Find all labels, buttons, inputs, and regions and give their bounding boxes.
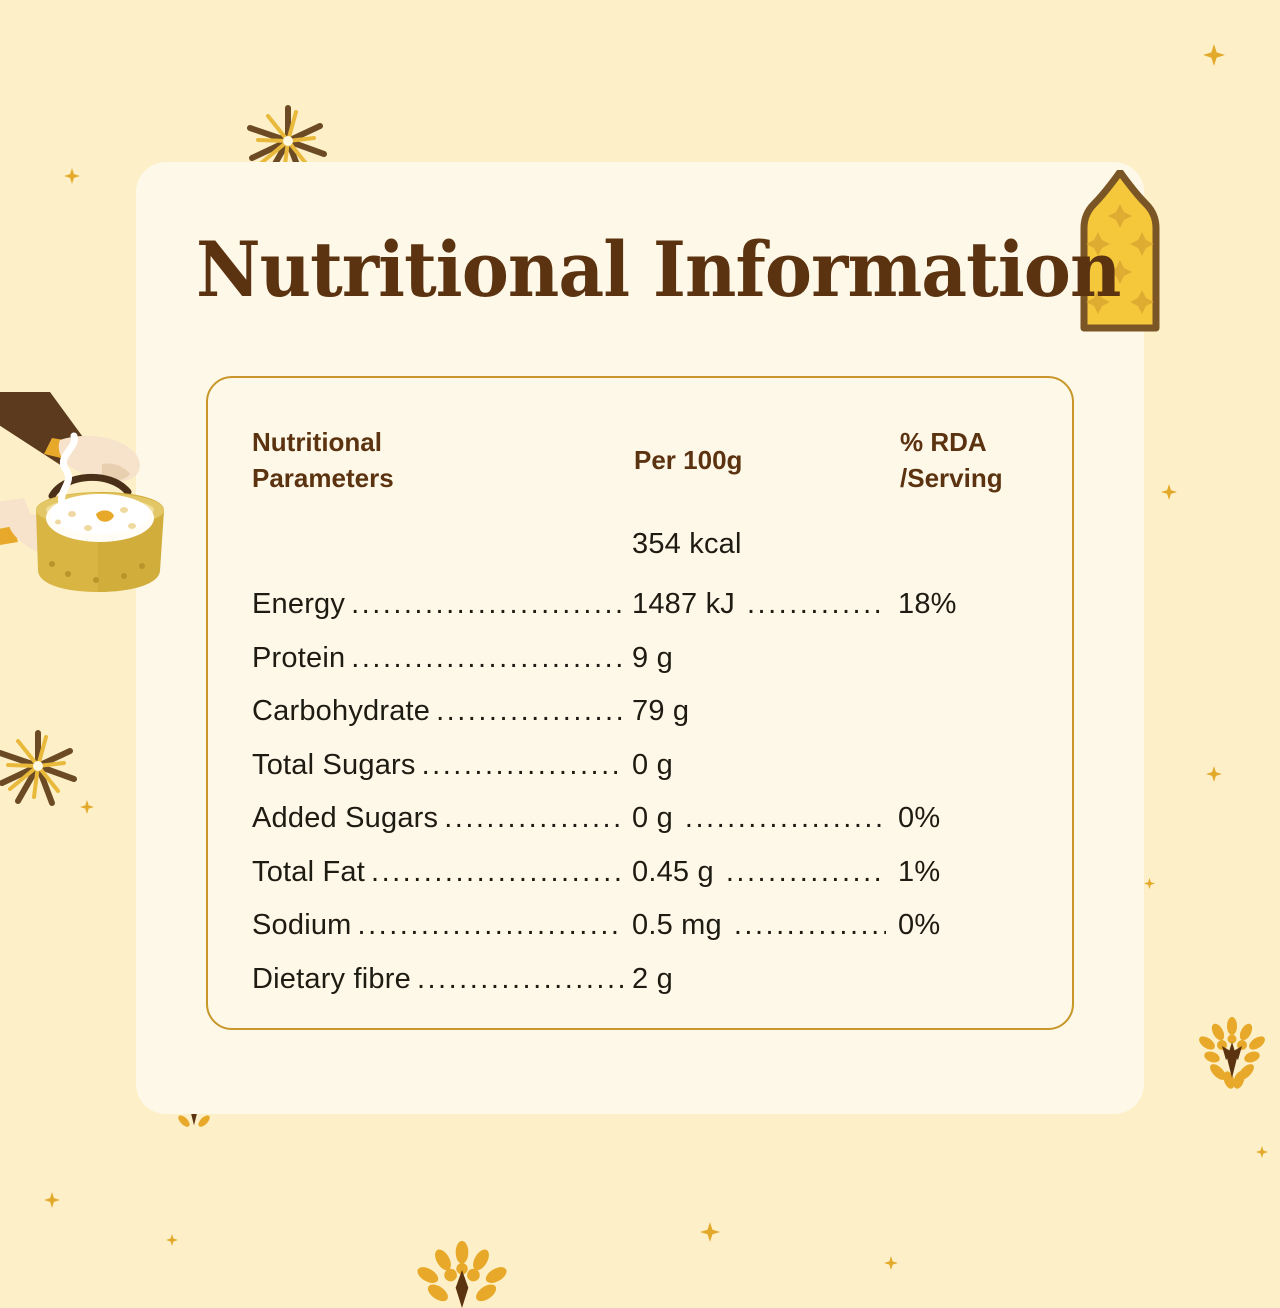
leader-dots: ........................................…: [734, 909, 886, 942]
row-value: 0 g: [632, 802, 673, 835]
gold-tree-motif-icon: [414, 1232, 510, 1308]
row-value: 1487 kJ: [632, 588, 735, 621]
row-value: 79 g: [632, 695, 689, 728]
table-row: Protein.................................…: [252, 642, 1052, 696]
gold-diamond-sparkle-icon: [64, 168, 80, 184]
gold-diamond-sparkle-icon: [1203, 44, 1225, 66]
row-label: Energy: [252, 588, 345, 621]
leader-dots: ........................................…: [726, 856, 886, 889]
firework-burst-icon: [0, 706, 98, 826]
table-header-row: Nutritional Parameters Per 100g % RDA /S…: [252, 424, 1052, 510]
leader-dots: ........................................…: [371, 856, 624, 889]
row-label: Carbohydrate: [252, 695, 430, 728]
row-label: Dietary fibre: [252, 963, 411, 996]
table-row: Carbohydrate............................…: [252, 695, 1052, 749]
gold-diamond-sparkle-icon: [1144, 878, 1155, 889]
column-header-rda: % RDA /Serving: [900, 424, 1003, 496]
gold-diamond-sparkle-icon: [700, 1222, 720, 1242]
leader-dots: ........................................…: [747, 588, 886, 621]
gold-diamond-sparkle-icon: [884, 1256, 898, 1270]
leader-dots: ........................................…: [351, 588, 624, 621]
row-value: 0.5 mg: [632, 909, 722, 942]
leader-dots: ........................................…: [422, 749, 624, 782]
gold-diamond-sparkle-icon: [80, 800, 94, 814]
leader-dots: ........................................…: [436, 695, 624, 728]
row-rda: 18%: [898, 588, 957, 621]
column-header-parameters: Nutritional Parameters: [252, 424, 394, 496]
row-rda: 1%: [898, 856, 940, 889]
row-label: Total Sugars: [252, 749, 416, 782]
table-row: Total Sugars............................…: [252, 749, 1052, 803]
row-label: Added Sugars: [252, 802, 438, 835]
gold-tree-motif-icon: [1196, 1012, 1268, 1090]
table-row: Dietary fibre...........................…: [252, 963, 1052, 1017]
row-value: 9 g: [632, 642, 673, 675]
row-rda: 0%: [898, 909, 940, 942]
leader-dots: ........................................…: [444, 802, 624, 835]
row-value: 2 g: [632, 963, 673, 996]
row-label: Total Fat: [252, 856, 365, 889]
leader-dots: ........................................…: [358, 909, 624, 942]
column-header-per-100g: Per 100g: [634, 442, 742, 478]
energy-kcal-value: 354 kcal: [632, 528, 742, 561]
table-row: Energy..................................…: [252, 588, 1052, 642]
page-title: Nutritional Information: [196, 232, 1033, 308]
row-value: 0 g: [632, 749, 673, 782]
gold-diamond-sparkle-icon: [1161, 484, 1177, 500]
row-rda: 0%: [898, 802, 940, 835]
gold-diamond-sparkle-icon: [1256, 1146, 1268, 1158]
table-row: Sodium..................................…: [252, 909, 1052, 963]
table-row: Added Sugars............................…: [252, 802, 1052, 856]
table-row: Total Fat...............................…: [252, 856, 1052, 910]
row-value: 0.45 g: [632, 856, 714, 889]
hands-holding-rice-pot-illustration: [0, 392, 192, 604]
leader-dots: ........................................…: [417, 963, 624, 996]
gold-diamond-sparkle-icon: [1206, 766, 1222, 782]
row-label: Protein: [252, 642, 345, 675]
gold-diamond-sparkle-icon: [44, 1192, 60, 1208]
leader-dots: ........................................…: [351, 642, 624, 675]
leader-dots: ........................................…: [685, 802, 886, 835]
gold-diamond-sparkle-icon: [166, 1234, 178, 1246]
row-label: Sodium: [252, 909, 352, 942]
